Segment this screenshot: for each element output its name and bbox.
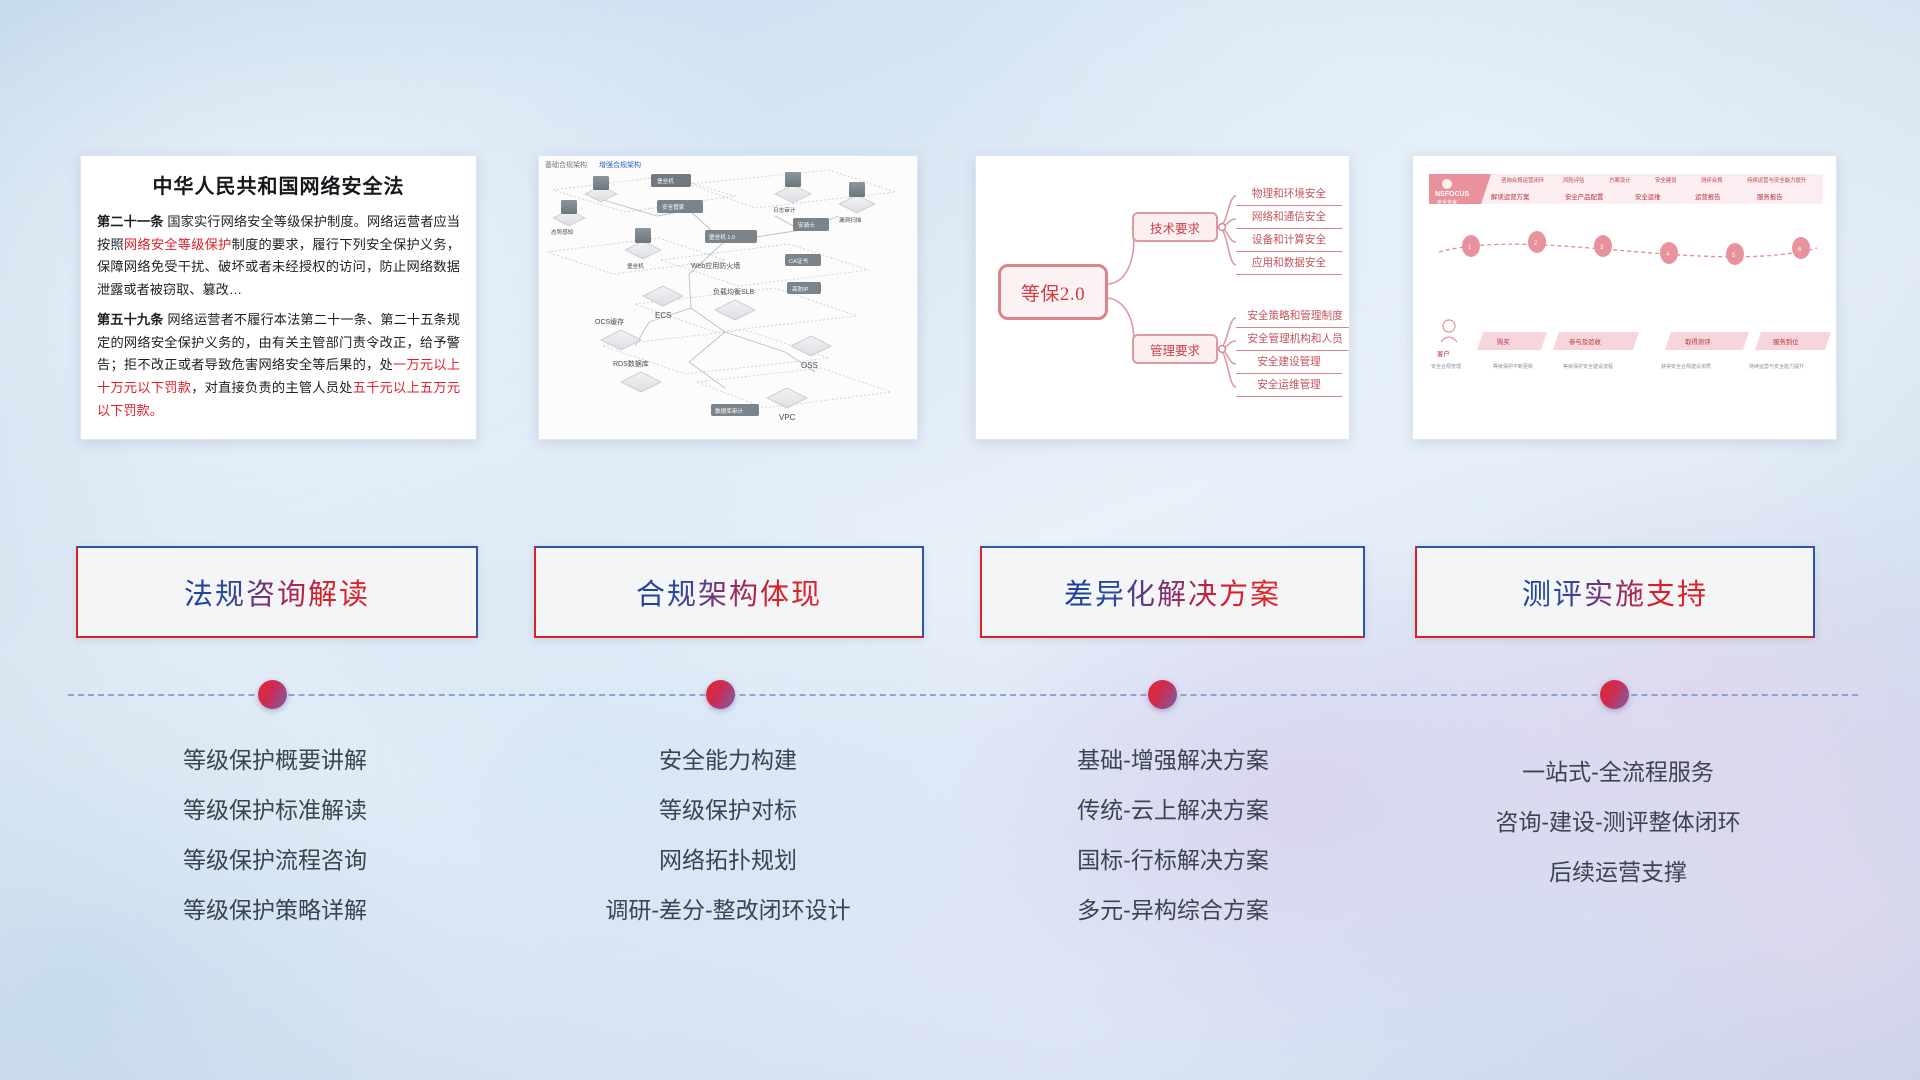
cards-row: 中华人民共和国网络安全法 第二十一条 国家实行网络安全等级保护制度。网络运营者应…: [0, 0, 1920, 470]
detail-item: 后续运营支撑: [1408, 847, 1828, 897]
card-architecture-diagram[interactable]: 基础合规架构 增强合规架构: [538, 155, 918, 440]
svg-text:OCS缓存: OCS缓存: [595, 317, 624, 326]
svg-text:运营报告: 运营报告: [1695, 192, 1721, 201]
svg-text:风险评估: 风险评估: [1563, 176, 1585, 184]
law-seg-highlight: 网络安全等级保护: [124, 237, 232, 252]
svg-text:数据库审计: 数据库审计: [715, 407, 743, 415]
detail-item: 等级保护概要讲解: [80, 735, 470, 785]
mindmap-leaf[interactable]: 应用和数据安全: [1236, 254, 1342, 275]
timeline-dot[interactable]: [1148, 680, 1177, 709]
svg-text:咨询合规运营闭环: 咨询合规运营闭环: [1501, 176, 1545, 184]
svg-text:持续运营与安全能力提升: 持续运营与安全能力提升: [1749, 363, 1804, 370]
timeline: [0, 680, 1920, 740]
detail-column-architecture: 安全能力构建 等级保护对标 网络拓扑规划 调研-差分-整改闭环设计: [528, 735, 928, 935]
law-paragraph: 第二十一条 国家实行网络安全等级保护制度。网络运营者应当按照网络安全等级保护制度…: [97, 211, 460, 302]
detail-item: 一站式-全流程服务: [1408, 747, 1828, 797]
detail-item: 安全能力构建: [528, 735, 928, 785]
detail-columns: 等级保护概要讲解 等级保护标准解读 等级保护流程咨询 等级保护策略详解 安全能力…: [0, 735, 1920, 975]
svg-text:堡垒机: 堡垒机: [627, 262, 644, 270]
roadmap-svg: NSFOCUS 安全专家 咨询合规运营闭环 风险评估 方案设计 安全建设 测评合…: [1413, 156, 1837, 440]
svg-text:态势感知: 态势感知: [551, 228, 574, 236]
pill-button-differentiated-solution[interactable]: 差异化解决方案: [980, 546, 1365, 638]
pill-label: 差异化解决方案: [1064, 571, 1281, 613]
svg-text:等级保护不断更新: 等级保护不断更新: [1493, 363, 1533, 370]
svg-text:解读运营方案: 解读运营方案: [1491, 192, 1530, 201]
timeline-dashed-line: [68, 694, 1858, 696]
architecture-canvas: 基础合规架构 增强合规架构: [539, 156, 917, 439]
detail-item: 多元-异构综合方案: [968, 885, 1378, 935]
mindmap-leaf[interactable]: 安全运维管理: [1236, 376, 1342, 397]
svg-text:取得测评: 取得测评: [1685, 337, 1711, 346]
svg-text:负载均衡SLB: 负载均衡SLB: [713, 287, 755, 296]
svg-text:日志审计: 日志审计: [773, 206, 796, 214]
detail-column-solution: 基础-增强解决方案 传统-云上解决方案 国标-行标解决方案 多元-异构综合方案: [968, 735, 1378, 935]
mindmap-leaf[interactable]: 设备和计算安全: [1236, 231, 1342, 252]
mindmap-branch-management[interactable]: 管理要求: [1132, 334, 1218, 364]
svg-text:漏洞扫描: 漏洞扫描: [839, 216, 862, 224]
svg-text:CA证书: CA证书: [789, 257, 808, 265]
mindmap-root-node[interactable]: 等保2.0: [998, 264, 1108, 320]
pill-label: 测评实施支持: [1522, 571, 1708, 613]
roadmap-canvas: NSFOCUS 安全专家 咨询合规运营闭环 风险评估 方案设计 安全建设 测评合…: [1413, 156, 1836, 439]
svg-text:先知: 先知: [587, 204, 599, 212]
card-roadmap[interactable]: NSFOCUS 安全专家 咨询合规运营闭环 风险评估 方案设计 安全建设 测评合…: [1412, 155, 1837, 440]
svg-text:客户: 客户: [1437, 349, 1450, 358]
mindmap-leaf[interactable]: 网络和通信安全: [1236, 208, 1342, 229]
law-article-number: 第五十九条: [97, 312, 164, 327]
mindmap-leaf[interactable]: 安全管理机构和人员: [1236, 330, 1350, 351]
svg-text:安全产品配置: 安全产品配置: [1565, 192, 1604, 201]
svg-text:ECS: ECS: [655, 311, 671, 320]
mindmap-leaf[interactable]: 物理和环境安全: [1236, 185, 1342, 206]
svg-text:服务到位: 服务到位: [1773, 337, 1799, 346]
mindmap-leaf[interactable]: 安全建设管理: [1236, 353, 1342, 374]
timeline-dot[interactable]: [1600, 680, 1629, 709]
detail-item: 等级保护策略详解: [80, 885, 470, 935]
svg-text:获得安全合规建设资质: 获得安全合规建设资质: [1661, 363, 1711, 370]
svg-text:RDS数据库: RDS数据库: [613, 359, 649, 368]
mindmap-canvas: 等保2.0 技术要求 管理要求 物理和环境安全 网络和通信安全 设备和计算安全 …: [976, 156, 1349, 439]
detail-item: 等级保护流程咨询: [80, 835, 470, 885]
svg-text:NSFOCUS: NSFOCUS: [1435, 191, 1470, 198]
pill-label: 合规架构体现: [636, 571, 822, 613]
law-body: 中华人民共和国网络安全法 第二十一条 国家实行网络安全等级保护制度。网络运营者应…: [81, 156, 476, 432]
svg-text:Web应用防火墙: Web应用防火墙: [691, 261, 740, 270]
detail-item: 等级保护标准解读: [80, 785, 470, 835]
pill-row: 法规咨询解读 合规架构体现 差异化解决方案 测评实施支持: [0, 546, 1920, 646]
svg-text:堡垒机 1.0: 堡垒机 1.0: [709, 233, 735, 241]
svg-text:服务报告: 服务报告: [1757, 192, 1783, 201]
svg-text:持续运营与安全能力提升: 持续运营与安全能力提升: [1747, 176, 1807, 184]
svg-text:堡垒机: 堡垒机: [657, 177, 674, 185]
pill-button-compliance-architecture[interactable]: 合规架构体现: [534, 546, 924, 638]
detail-item: 基础-增强解决方案: [968, 735, 1378, 785]
card-law-text[interactable]: 中华人民共和国网络安全法 第二十一条 国家实行网络安全等级保护制度。网络运营者应…: [80, 155, 477, 440]
detail-item: 传统-云上解决方案: [968, 785, 1378, 835]
law-article-number: 第二十一条: [97, 214, 164, 229]
svg-text:购买: 购买: [1497, 337, 1510, 346]
pill-button-assessment-support[interactable]: 测评实施支持: [1415, 546, 1815, 638]
svg-text:安全专家: 安全专家: [1437, 199, 1457, 206]
svg-text:安全管家: 安全管家: [662, 203, 685, 211]
svg-text:OSS: OSS: [801, 361, 818, 370]
architecture-svg: 先知 态势感知 堡垒机 安全管家: [539, 156, 918, 440]
card-mindmap[interactable]: 等保2.0 技术要求 管理要求 物理和环境安全 网络和通信安全 设备和计算安全 …: [975, 155, 1350, 440]
svg-text:高防IP: 高防IP: [792, 285, 809, 293]
detail-item: 网络拓扑规划: [528, 835, 928, 885]
law-seg: ，对直接负责的主管人员处: [191, 380, 352, 395]
mindmap-branch-technical[interactable]: 技术要求: [1132, 212, 1218, 242]
detail-item: 国标-行标解决方案: [968, 835, 1378, 885]
svg-text:安全运维: 安全运维: [1635, 192, 1661, 201]
svg-text:参与及验收: 参与及验收: [1569, 337, 1602, 346]
svg-text:等级保护安全建设流程: 等级保护安全建设流程: [1563, 363, 1613, 370]
svg-text:测评合规: 测评合规: [1701, 176, 1723, 184]
pill-button-regulation-consulting[interactable]: 法规咨询解读: [76, 546, 478, 638]
detail-column-assessment: 一站式-全流程服务 咨询-建设-测评整体闭环 后续运营支撑: [1408, 735, 1828, 897]
law-title: 中华人民共和国网络安全法: [97, 170, 460, 199]
svg-text:安骑士: 安骑士: [798, 221, 815, 229]
detail-column-regulation: 等级保护概要讲解 等级保护标准解读 等级保护流程咨询 等级保护策略详解: [80, 735, 470, 935]
detail-item: 咨询-建设-测评整体闭环: [1408, 797, 1828, 847]
mindmap-leaf[interactable]: 安全策略和管理制度: [1236, 307, 1350, 328]
svg-text:安全建设: 安全建设: [1655, 176, 1677, 184]
svg-text:方案设计: 方案设计: [1609, 176, 1631, 184]
pill-label: 法规咨询解读: [184, 571, 370, 613]
timeline-dot[interactable]: [706, 680, 735, 709]
svg-text:VPC: VPC: [779, 413, 796, 422]
detail-item: 调研-差分-整改闭环设计: [528, 885, 928, 935]
law-paragraph: 第五十九条 网络运营者不履行本法第二十一条、第二十五条规定的网络安全保护义务的，…: [97, 309, 460, 423]
svg-text:安全合规管理: 安全合规管理: [1431, 363, 1461, 370]
timeline-dot[interactable]: [258, 680, 287, 709]
detail-item: 等级保护对标: [528, 785, 928, 835]
